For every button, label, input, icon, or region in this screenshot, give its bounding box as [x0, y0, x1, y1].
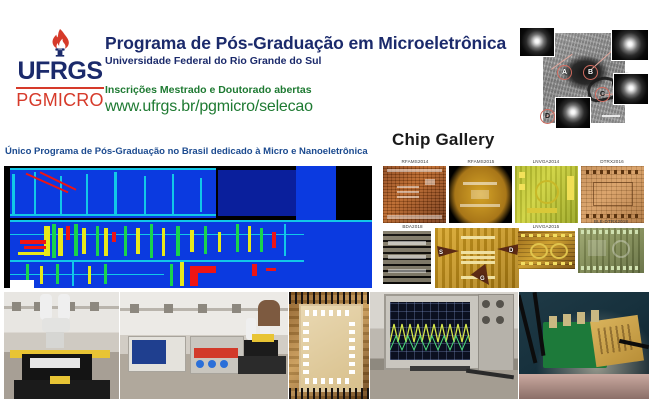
- probe-tip-drain: [497, 244, 519, 255]
- chip-image-ble-dtrx2018[interactable]: [578, 228, 644, 273]
- chip-image-probe-pads[interactable]: S D G: [435, 228, 519, 288]
- probe-label-s: S: [439, 250, 443, 256]
- sem-region-label-d: D: [540, 109, 555, 124]
- svg-text:1934: 1934: [58, 49, 62, 51]
- chip-label-rfams2015: RFAMS2015: [451, 159, 511, 164]
- page-title: Programa de Pós-Graduação em Microeletrô…: [105, 33, 506, 54]
- ufrgs-pgmicro-logo: 1934 UFRGS PGMICRO: [14, 28, 106, 109]
- photo-oscilloscope-waveform[interactable]: [370, 292, 518, 399]
- chip-label-rfams2014: RFAMS2014: [385, 159, 445, 164]
- sem-region-label-c: C: [595, 87, 610, 102]
- probe-label-g: G: [480, 276, 485, 282]
- chip-label-bda2018: BDA2018: [385, 224, 440, 229]
- chip-label-lnvga2015: LNVGA2015: [516, 224, 576, 229]
- sem-region-label-a: A: [557, 65, 572, 80]
- program-url[interactable]: www.ufrgs.br/pgmicro/selecao: [105, 98, 313, 116]
- chip-image-dtrx2016[interactable]: [581, 166, 644, 223]
- admissions-line: Inscrições Mestrado e Doutorado abertas: [105, 84, 312, 96]
- chip-label-ble-dtrx2018: BLE-DTRX2018: [578, 219, 644, 224]
- ic-layout-density-heatmap[interactable]: [4, 162, 372, 288]
- chip-image-bda2018[interactable]: [383, 231, 431, 284]
- sem-micrograph-figure: A B C D: [515, 25, 651, 129]
- logo-divider-rule: [16, 87, 104, 89]
- photo-rf-test-board[interactable]: [519, 292, 649, 399]
- chip-image-lnvga2015[interactable]: [518, 231, 575, 269]
- logo-pgmicro-wordmark: PGMICRO: [14, 91, 106, 109]
- chip-label-lnvga2014: LNVGA2014: [516, 159, 576, 164]
- sem-region-label-b: B: [583, 65, 598, 80]
- diffraction-inset-c: [613, 73, 649, 105]
- chip-label-dtrx2016: DTRX2016: [582, 159, 642, 164]
- page-subtitle: Universidade Federal do Rio Grande do Su…: [105, 55, 321, 67]
- diffraction-inset-d: [555, 97, 591, 129]
- chip-image-rfams2014[interactable]: [383, 166, 446, 223]
- diffraction-inset-b: [611, 29, 649, 61]
- chip-gallery-title: Chip Gallery: [392, 130, 495, 150]
- probe-label-d: D: [509, 248, 513, 254]
- chip-image-lnvga2014[interactable]: [515, 166, 578, 223]
- diffraction-inset-a: [519, 27, 555, 57]
- logo-ufrgs-wordmark: UFRGS: [14, 59, 106, 84]
- photo-bench-instruments[interactable]: [120, 292, 288, 399]
- poster-canvas: 1934 UFRGS PGMICRO Programa de Pós-Gradu…: [0, 0, 653, 417]
- program-tagline: Único Programa de Pós-Graduação no Brasi…: [5, 146, 368, 157]
- flame-torch-icon: 1934: [14, 28, 106, 58]
- photo-probe-station-microscope[interactable]: [4, 292, 119, 399]
- sem-scalebar: [602, 115, 620, 117]
- chip-image-rfams2015[interactable]: [449, 166, 512, 223]
- photo-die-macro-wirebond[interactable]: [289, 292, 369, 399]
